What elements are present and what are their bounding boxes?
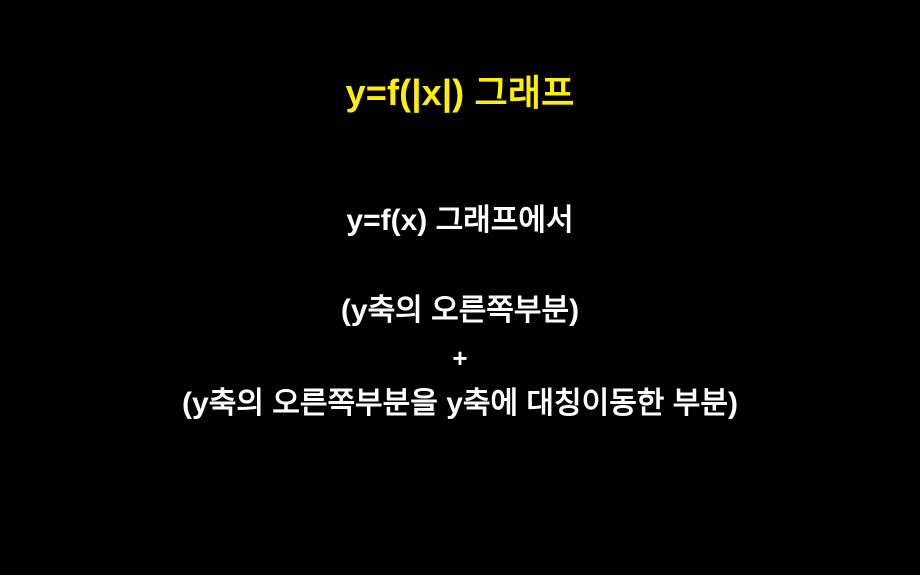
- empty-lower-area: [0, 430, 920, 575]
- page-title: y=f(|x|) 그래프: [0, 72, 920, 113]
- lesson-body: y=f(x) 그래프에서 (y축의 오른쪽부분) + (y축의 오른쪽부분을 y…: [0, 200, 920, 421]
- body-line-part-a: (y축의 오른쪽부분): [0, 239, 920, 329]
- body-line-operator: +: [0, 328, 920, 373]
- slide-canvas: y=f(|x|) 그래프 y=f(x) 그래프에서 (y축의 오른쪽부분) + …: [0, 0, 920, 575]
- body-line-intro: y=f(x) 그래프에서: [0, 200, 920, 239]
- body-line-part-b: (y축의 오른쪽부분을 y축에 대칭이동한 부분): [0, 373, 920, 422]
